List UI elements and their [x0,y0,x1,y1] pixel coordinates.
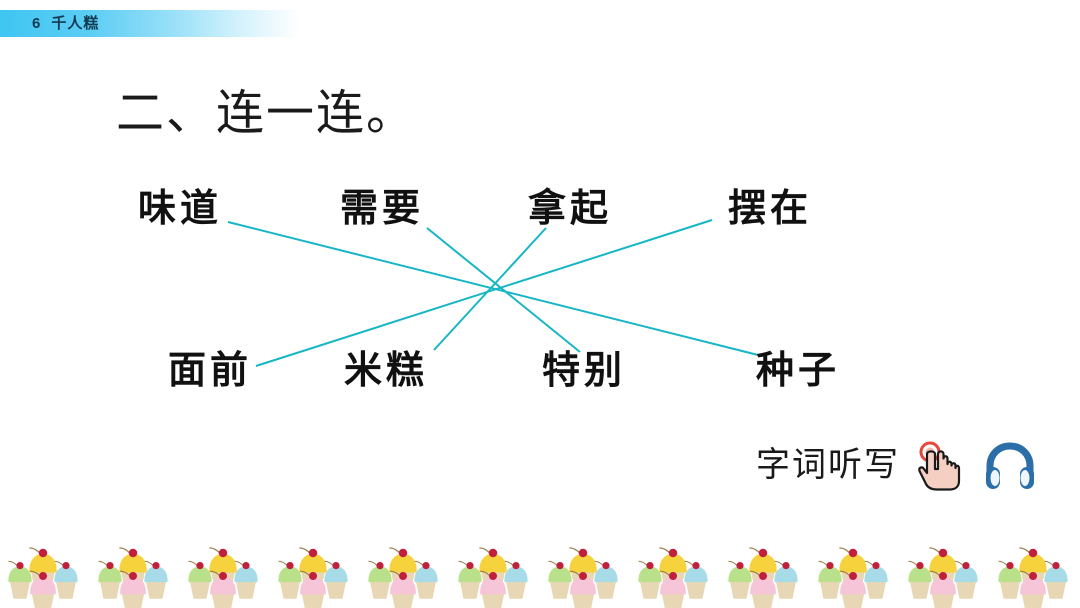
match-word-top-2[interactable]: 拿起 [528,190,612,228]
match-line-2 [434,228,546,350]
match-word-bottom-2[interactable]: 特别 [542,352,626,390]
cupcake-cluster [450,538,540,608]
match-line-3 [256,220,712,366]
lesson-title: 千人糕 [51,15,99,32]
match-word-bottom-1[interactable]: 米糕 [344,352,428,390]
cupcake-cluster [720,538,810,608]
tap-hand-icon[interactable] [914,440,970,492]
cupcake-cluster [180,538,270,608]
match-word-bottom-3[interactable]: 种子 [756,352,840,390]
dictation-label: 字词听写 [756,449,900,483]
match-line-1 [427,228,580,352]
cupcake-cluster [90,538,180,608]
dictation-row[interactable]: 字词听写 [756,440,1036,492]
match-line-0 [228,222,762,356]
match-word-top-0[interactable]: 味道 [138,190,222,228]
match-word-top-3[interactable]: 摆在 [728,190,812,228]
cupcake-cluster [270,538,360,608]
cupcake-footer-decoration [0,536,1080,608]
headphones-icon[interactable] [984,442,1036,490]
cupcake-cluster [360,538,450,608]
cupcake-cluster [810,538,900,608]
cupcake-cluster [630,538,720,608]
match-word-top-1[interactable]: 需要 [340,190,424,228]
section-heading: 二、连一连。 [116,90,416,138]
cupcake-cluster [900,538,990,608]
cupcake-cluster [0,538,90,608]
cupcake-cluster [990,538,1080,608]
page-title: 6千人糕 [32,12,99,36]
cupcake-cluster [540,538,630,608]
match-word-bottom-0[interactable]: 面前 [168,352,252,390]
lesson-number: 6 [32,15,41,32]
